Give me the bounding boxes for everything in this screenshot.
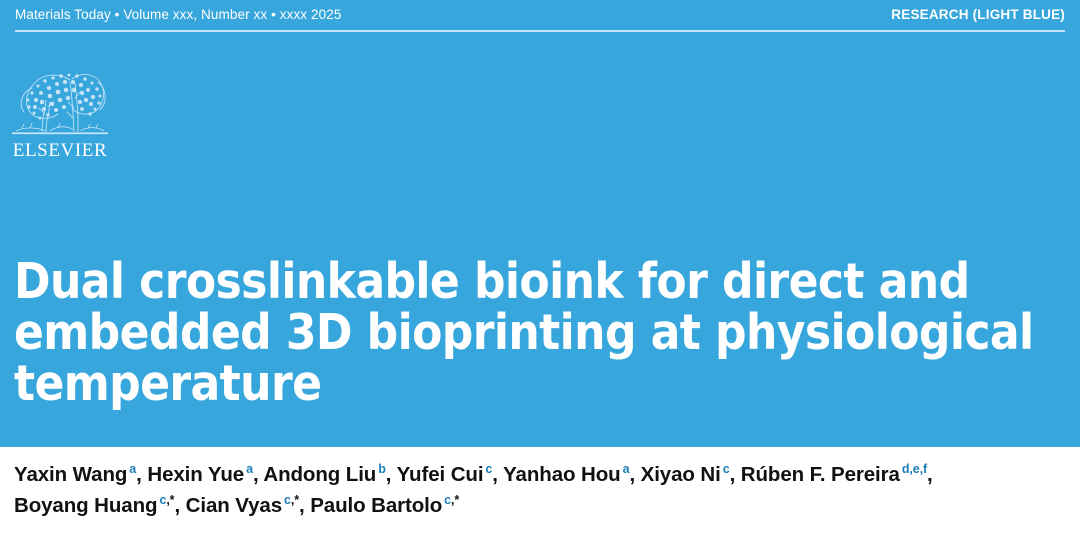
author-entry: Rúben F. Pereirad,e,f: [741, 463, 927, 486]
author-affiliation-marker: c: [485, 462, 492, 476]
author-affiliation-marker: a: [246, 462, 253, 476]
elsevier-tree-icon: [12, 62, 108, 138]
author-entry: Xiyao Nic: [641, 463, 730, 486]
author-name: Cian Vyas: [186, 494, 282, 517]
elsevier-wordmark: ELSEVIER: [12, 140, 108, 162]
author-name: Yufei Cui: [397, 463, 484, 486]
header-divider: [15, 30, 1065, 32]
author-name: Xiyao Ni: [641, 463, 721, 486]
author-entry: Boyang Huangc,*: [14, 494, 174, 517]
author-entry: Hexin Yuea: [147, 463, 253, 486]
running-head: Materials Today • Volume xxx, Number xx …: [15, 7, 1065, 27]
author-affiliation-marker: c: [723, 462, 730, 476]
author-entry: Yufei Cuic: [397, 463, 493, 486]
article-banner: Materials Today • Volume xxx, Number xx …: [0, 0, 1080, 447]
author-affiliation-marker: a: [623, 462, 630, 476]
author-entry: Yanhao Houa: [503, 463, 629, 486]
author-entry: Yaxin Wanga: [14, 463, 136, 486]
author-name: Yanhao Hou: [503, 463, 620, 486]
corresponding-author-asterisk: ,*: [451, 493, 459, 507]
elsevier-logo: ELSEVIER: [12, 62, 108, 168]
article-section-label: RESEARCH (LIGHT BLUE): [891, 7, 1065, 22]
author-name: Boyang Huang: [14, 494, 157, 517]
author-affiliation-marker: a: [129, 462, 136, 476]
author-name: Rúben F. Pereira: [741, 463, 900, 486]
corresponding-author-asterisk: ,*: [291, 493, 299, 507]
author-entry: Andong Liub: [263, 463, 385, 486]
author-name: Paulo Bartolo: [310, 494, 442, 517]
author-affiliation-marker: c,*: [444, 493, 459, 507]
author-name: Yaxin Wang: [14, 463, 127, 486]
author-name: Andong Liu: [263, 463, 376, 486]
author-affiliation-marker: d,e,f: [902, 462, 927, 476]
journal-citation-line: Materials Today • Volume xxx, Number xx …: [15, 7, 341, 22]
author-entry: Paulo Bartoloc,*: [310, 494, 459, 517]
author-entry: Cian Vyasc,*: [186, 494, 299, 517]
corresponding-author-asterisk: ,*: [166, 493, 174, 507]
author-affiliation-marker: c,*: [159, 493, 174, 507]
author-affiliation-marker: c,*: [284, 493, 299, 507]
author-name: Hexin Yue: [147, 463, 244, 486]
article-title: Dual crosslinkable bioink for direct and…: [14, 256, 1070, 409]
author-list: Yaxin Wanga, Hexin Yuea, Andong Liub, Yu…: [14, 459, 1070, 521]
author-affiliation-marker: b: [378, 462, 386, 476]
